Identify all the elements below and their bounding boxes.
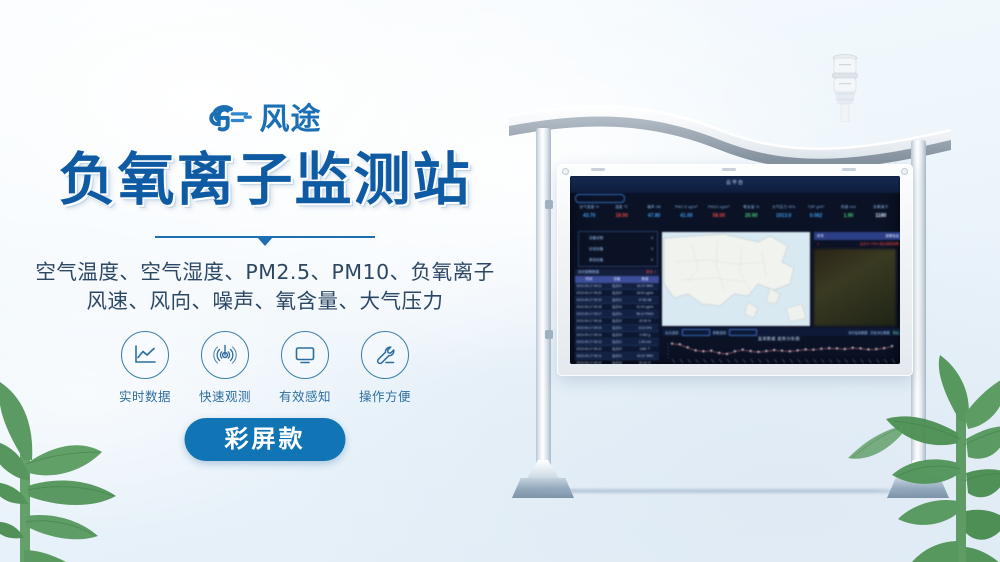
chart-legend-history: 历史对比数据: [871, 330, 890, 335]
table-row[interactable]: 2023-05-17 09:20站点0218.90 ug/m³: [575, 290, 659, 297]
table-cell: 19.10 ℃: [631, 360, 659, 364]
table-cell: 站点03: [603, 360, 631, 364]
table-row[interactable]: 2023-05-17 09:18站点0341.00 ug/m³: [575, 304, 659, 311]
table-row[interactable]: 2023-05-17 09:13站点011.90 m/s: [575, 339, 659, 346]
support-pole-left: [536, 128, 551, 488]
chart-toolbar: 站点选择 参数选择 实时监测数据 历史对比数据 导出: [662, 328, 900, 336]
kpi-label: 离线设备: [589, 256, 603, 265]
metric-value: 43.70: [573, 211, 605, 221]
wrench-icon: [361, 331, 409, 379]
metric-label: 空气湿度 %: [573, 203, 605, 211]
alert-row: 1 站点01 PM10 超出阈值报警: [814, 241, 900, 248]
feature-item-easy-operation[interactable]: 操作方便: [359, 331, 411, 405]
table-cell: 2023-05-17 09:12: [575, 346, 603, 352]
subtitle-block: 空气温度、空气湿度、PM2.5、PM10、负氧离子 风速、风向、噪声、氧含量、大…: [0, 258, 530, 316]
banner-stage: 风途 负氧离子监测站 空气温度、空气湿度、PM2.5、PM10、负氧离子 风速、…: [0, 0, 1000, 562]
cabinet-vent: [722, 168, 736, 171]
chart-filter-station-label: 站点选择: [665, 330, 679, 335]
table-cell: 2023-05-17 09:21: [575, 283, 603, 289]
column-header: 时间: [575, 276, 603, 283]
brand-logo: 风途: [209, 104, 322, 136]
table-cell: 58.10 PM10: [631, 311, 659, 317]
table-cell: 1013 hPa: [631, 325, 659, 331]
table-cell: 2023-05-17 09:14: [575, 332, 603, 338]
table-cell: 2023-05-17 09:13: [575, 339, 603, 345]
metric-label: PM10 ug/m³: [703, 203, 735, 211]
display-cabinet: 云平台 空气湿度 % 43.70 温度 ℃ 18.90 噪声 dB: [557, 164, 913, 376]
dashboard-title: 云平台: [570, 179, 900, 186]
metric-value: 1013.0: [767, 211, 799, 221]
metric-value: 18.90: [605, 211, 637, 221]
metric-card: 温度 ℃ 18.90: [605, 203, 637, 227]
metric-label: 噪声 dB: [638, 203, 670, 211]
metric-value: 0.062: [800, 211, 832, 221]
chart-filter-station-select[interactable]: [682, 329, 710, 336]
cabinet-vent: [591, 168, 605, 171]
metric-label: 负氧离子: [865, 203, 897, 211]
cabinet-hinge: [545, 200, 553, 209]
metric-label: 风速 m/s: [832, 203, 864, 211]
feature-label: 有效感知: [279, 386, 331, 405]
foreground-plant-sprig-right: [844, 422, 904, 470]
table-row[interactable]: 2023-05-17 09:16站点0220.90 %: [575, 318, 659, 325]
table-cell: 47.80 dB: [631, 297, 659, 303]
table-cell: 站点01: [603, 325, 631, 331]
dashboard-screen[interactable]: 云平台 空气湿度 % 43.70 温度 ℃ 18.90 噪声 dB: [570, 176, 900, 364]
table-row[interactable]: 2023-05-17 09:11站点0143.20 %RH: [575, 353, 659, 360]
pole-base-left: [512, 478, 574, 498]
table-cell: 41.00 ug/m³: [631, 304, 659, 310]
kpi-value: 3: [651, 245, 653, 254]
table-cell: 2023-05-17 09:11: [575, 353, 603, 359]
alert-column-no: 序号: [817, 232, 824, 240]
table-cell: 43.20 %RH: [631, 353, 659, 359]
radar-sensor-icon: [201, 331, 249, 379]
metric-card: 大气压力 hPa 1013.0: [767, 203, 799, 227]
table-cell: 2023-05-17 09:20: [575, 290, 603, 296]
monitor-screen-icon: [281, 331, 329, 379]
table-cell: 站点01: [603, 283, 631, 289]
brand-name: 风途: [260, 105, 322, 135]
metric-card: 空气湿度 % 43.70: [573, 203, 605, 227]
kpi-value: 3: [651, 234, 653, 243]
table-cell: 0.062 g: [631, 332, 659, 338]
cabinet-screw: [901, 168, 908, 175]
table-body: 2023-05-17 09:21站点0143.70 %RH2023-05-17 …: [575, 283, 659, 364]
table-more-link[interactable]: 更多 >: [646, 269, 656, 276]
page-title: 负氧离子监测站: [0, 152, 530, 209]
table-row[interactable]: 2023-05-17 09:12站点021180 个: [575, 346, 659, 353]
metric-card: 风速 m/s 1.90: [832, 203, 864, 227]
table-cell: 站点01: [603, 339, 631, 345]
kpi-panel: 设备总数 3 在线设备 3 离线设备 0: [578, 231, 658, 267]
wind-cloud-logo-icon: [209, 104, 253, 136]
table-cell: 2023-05-17 09:15: [575, 325, 603, 331]
table-cell: 2023-05-17 09:16: [575, 318, 603, 324]
alert-column-msg: 报警信息: [885, 232, 899, 240]
kpi-row: 在线设备 3: [579, 243, 657, 254]
metric-label: 大气压力 hPa: [767, 203, 799, 211]
metric-card: TSP g/m³ 0.062: [800, 203, 832, 227]
table-row[interactable]: 2023-05-17 09:15站点011013 hPa: [575, 325, 659, 332]
title-divider: [155, 236, 375, 238]
feature-item-effective-sensing[interactable]: 有效感知: [279, 331, 331, 405]
table-row[interactable]: 2023-05-17 09:19站点0147.80 dB: [575, 297, 659, 304]
feature-label: 快速观测: [199, 386, 251, 405]
table-row[interactable]: 2023-05-17 09:10站点0319.10 ℃: [575, 360, 659, 364]
camera-feed-pane: [814, 249, 896, 326]
alarm-data-table[interactable]: 实时报警数据 更多 > 时间 设备 数值 2023-05-17 09:21站点0…: [575, 269, 659, 359]
subtitle-line-2: 风速、风向、噪声、氧含量、大气压力: [0, 287, 530, 316]
metric-value: 1180: [865, 211, 897, 221]
cabinet-hinge: [545, 330, 553, 339]
alert-no: 1: [817, 241, 819, 248]
metric-label: TSP g/m³: [800, 203, 832, 211]
metric-card: 噪声 dB 47.80: [638, 203, 670, 227]
metric-label: 氧含量 %: [735, 203, 767, 211]
table-title: 实时报警数据: [578, 269, 599, 276]
feature-label: 操作方便: [359, 386, 411, 405]
metric-value: 41.00: [670, 211, 702, 221]
alert-message: 站点01 PM10 超出阈值报警: [860, 241, 899, 248]
table-cell: 18.90 ug/m³: [631, 290, 659, 296]
metric-strip: 空气湿度 % 43.70 温度 ℃ 18.90 噪声 dB 47.80 PM: [573, 203, 897, 227]
column-header: 数值: [631, 276, 659, 283]
metric-label: PM2.5 ug/m³: [670, 203, 702, 211]
table-cell: 1180 个: [631, 346, 659, 352]
table-cell: 站点03: [603, 332, 631, 338]
table-cell: 2023-05-17 09:17: [575, 311, 603, 317]
table-cell: 2023-05-17 09:19: [575, 297, 603, 303]
metric-card: 氧含量 % 20.90: [735, 203, 767, 227]
foreground-plant-left: [0, 368, 175, 562]
table-row[interactable]: 2023-05-17 09:14站点030.062 g: [575, 332, 659, 339]
color-screen-model-button[interactable]: 彩屏款: [185, 418, 346, 461]
metric-value: 20.90: [735, 211, 767, 221]
china-map[interactable]: [662, 232, 810, 326]
feature-item-fast-observation[interactable]: 快速观测: [199, 331, 251, 405]
table-row[interactable]: 2023-05-17 09:17站点0158.10 PM10: [575, 311, 659, 318]
station-select[interactable]: [575, 194, 625, 203]
metric-value: 58.00: [703, 211, 735, 221]
metric-value: 47.80: [638, 211, 670, 221]
table-cell: 站点01: [603, 311, 631, 317]
cabinet-vent: [842, 168, 856, 171]
metric-card: 负氧离子 1180: [865, 203, 897, 227]
kpi-value: 0: [651, 256, 653, 265]
table-cell: 站点02: [603, 290, 631, 296]
table-header: 实时报警数据 更多 >: [575, 269, 659, 276]
chart-filter-param-label: 参数选择: [713, 330, 727, 335]
column-header: 设备: [603, 276, 631, 283]
kpi-label: 设备总数: [589, 234, 603, 243]
cabinet-screw: [562, 168, 569, 175]
alert-header: 序号 报警信息: [814, 232, 900, 240]
table-cell: 站点02: [603, 346, 631, 352]
kpi-row: 离线设备 0: [579, 254, 657, 265]
table-row[interactable]: 2023-05-17 09:21站点0143.70 %RH: [575, 283, 659, 290]
metric-card: PM2.5 ug/m³ 41.00: [670, 203, 702, 227]
metric-card: PM10 ug/m³ 58.00: [703, 203, 735, 227]
table-cell: 站点02: [603, 318, 631, 324]
table-cell: 站点03: [603, 304, 631, 310]
table-cell: 43.70 %RH: [631, 283, 659, 289]
table-cell: 站点01: [603, 353, 631, 359]
table-cell: 站点01: [603, 297, 631, 303]
chart-filter-param-select[interactable]: [729, 329, 757, 336]
chart-legend-realtime: 实时监测数据: [848, 330, 867, 335]
table-cell: 20.90 %: [631, 318, 659, 324]
subtitle-line-1: 空气温度、空气湿度、PM2.5、PM10、负氧离子: [0, 258, 530, 287]
chart-export-button[interactable]: 导出: [893, 330, 899, 335]
kpi-row: 设备总数 3: [579, 232, 657, 243]
table-columns: 时间 设备 数值: [575, 276, 659, 283]
table-cell: 1.90 m/s: [631, 339, 659, 345]
table-cell: 2023-05-17 09:18: [575, 304, 603, 310]
metric-value: 1.90: [832, 211, 864, 221]
metric-label: 温度 ℃: [605, 203, 637, 211]
kpi-label: 在线设备: [589, 245, 603, 254]
table-cell: 2023-05-17 09:10: [575, 360, 603, 364]
